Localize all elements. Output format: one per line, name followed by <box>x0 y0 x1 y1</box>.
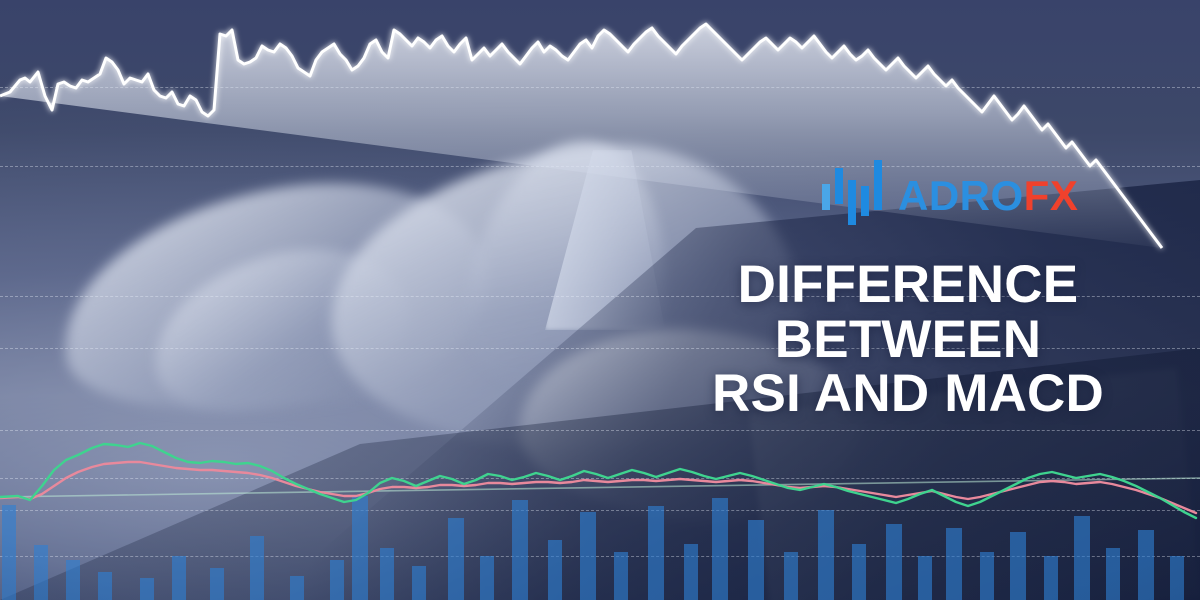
title-line-3: RSI AND MACD <box>638 367 1178 422</box>
banner-root: ADROFX DIFFERENCE BETWEEN RSI AND MACD <box>0 0 1200 600</box>
logo-bar-0 <box>822 184 830 210</box>
logo-bars-icon <box>822 160 884 232</box>
title-line-1: DIFFERENCE <box>638 258 1178 313</box>
logo-bar-4 <box>874 160 882 210</box>
title-line-2: BETWEEN <box>638 313 1178 368</box>
brand-word-primary: ADRO <box>898 172 1024 219</box>
brand-word-accent: FX <box>1024 172 1079 219</box>
brand-wordmark: ADROFX <box>898 175 1078 217</box>
logo-bar-2 <box>848 180 856 225</box>
logo-bar-1 <box>835 168 843 204</box>
brand-logo[interactable]: ADROFX <box>822 160 1078 232</box>
logo-bar-3 <box>861 186 869 216</box>
page-title: DIFFERENCE BETWEEN RSI AND MACD <box>638 258 1178 422</box>
